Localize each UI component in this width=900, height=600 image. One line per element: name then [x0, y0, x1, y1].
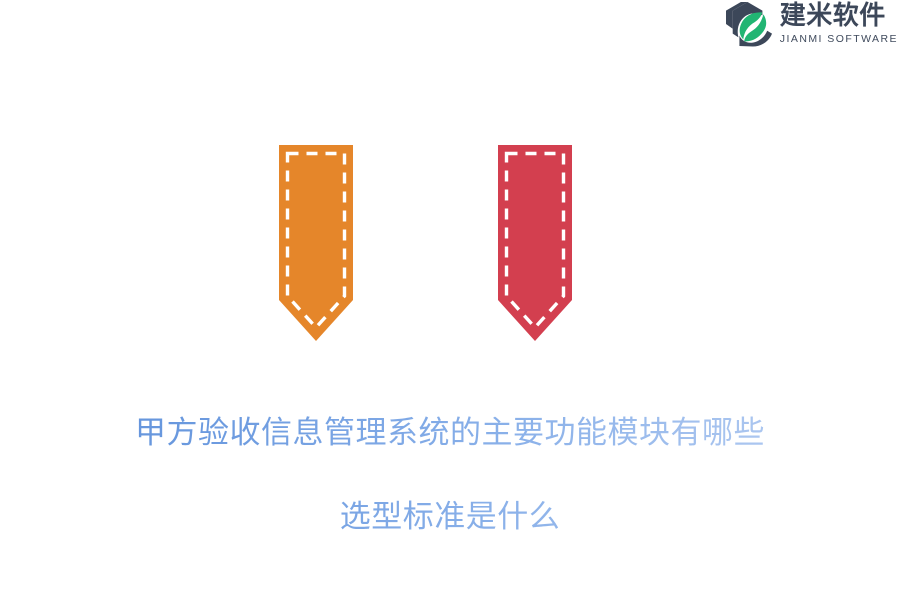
page-title-line-1: 甲方验收信息管理系统的主要功能模块有哪些 [0, 412, 900, 454]
red-ribbon-body [498, 145, 572, 341]
red-ribbon [498, 145, 572, 341]
orange-ribbon-body [279, 145, 353, 341]
page-title-line-2: 选型标准是什么 [0, 496, 900, 538]
brand-logo[interactable]: 建米软件 JIANMI SOFTWARE [725, 0, 898, 48]
jianmi-hexagon-leaf-logo-icon [725, 1, 773, 47]
brand-name-en: JIANMI SOFTWARE [780, 34, 898, 45]
ribbon-group [0, 145, 900, 341]
brand-name-cn: 建米软件 [780, 3, 898, 29]
brand-text-block: 建米软件 JIANMI SOFTWARE [780, 3, 898, 45]
orange-ribbon [279, 145, 353, 341]
page-title: 甲方验收信息管理系统的主要功能模块有哪些 选型标准是什么 [0, 370, 900, 580]
poster-canvas: 建米软件 JIANMI SOFTWARE 甲方验收信息管理系统的主要功能模块有哪… [0, 0, 900, 600]
